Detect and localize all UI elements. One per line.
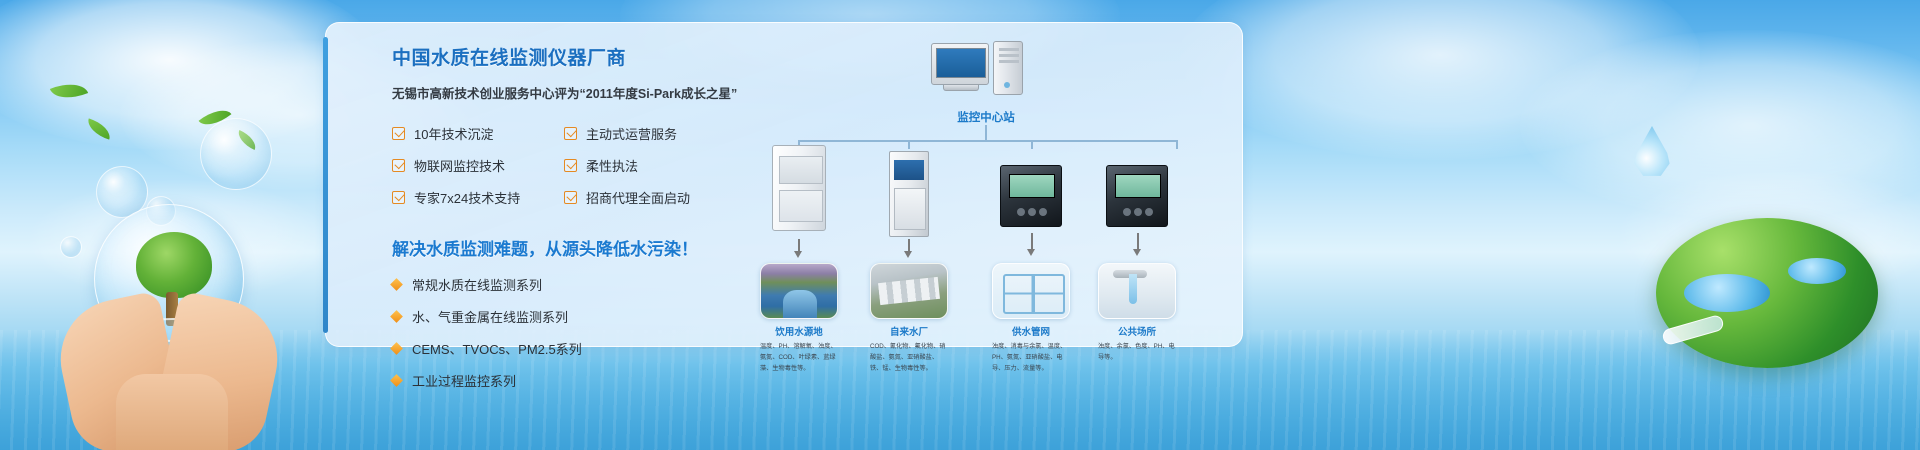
checklist-item-label: 招商代理全面启动 [586,188,690,207]
server-tower-icon [993,41,1023,95]
arrow-down-icon [794,251,802,258]
device-lcd-screen [1115,174,1161,198]
list-item[interactable]: 常规水质在线监测系列 [392,275,722,294]
list-item-label: 工业过程监控系列 [412,371,516,390]
arrow-down-icon [1027,249,1035,256]
scene-card[interactable]: 公共场所 浊度、余氯、色度、PH、电导等。 [1098,263,1176,364]
leaf-icon [84,118,113,139]
river-source-thumb [760,263,838,319]
scene-title: 自来水厂 [870,324,948,338]
water-droplet-icon [1632,126,1672,178]
field-device[interactable] [889,151,929,237]
lake-shape [1684,274,1770,312]
controller-panel-icon [1000,165,1062,227]
section-title: 解决水质监测难题，从源头降低水污染！ [392,235,722,260]
monitoring-topology-diagram: 监控中心站 [756,41,1226,341]
arrow-down-icon [1133,249,1141,256]
pipe-network-thumb [992,263,1070,319]
tree-crown-icon [136,232,212,298]
leaf-icon [50,76,88,105]
device-keypad [1011,205,1053,219]
hands-holding-tree-illustration [60,196,290,450]
list-item[interactable]: CEMS、TVOCs、PM2.5系列 [392,339,722,358]
scene-card[interactable]: 饮用水源地 温度、PH、溶解氧、浊度、氨氮、COD、叶绿素、蓝绿藻、生物毒性等。 [760,263,838,375]
center-station-label: 监控中心站 [886,109,1086,125]
diamond-bullet-icon [390,342,403,355]
field-device[interactable] [1106,165,1168,227]
checkbox-checked-icon [392,191,405,204]
checkbox-checked-icon [392,127,405,140]
connector-line [1031,140,1033,149]
scene-description: COD、氰化物、氟化物、硝酸盐、氨氮、亚硝酸盐、铁、锰、生物毒性等。 [870,342,948,375]
list-item[interactable]: 工业过程监控系列 [392,371,722,390]
device-lcd-screen [1009,174,1055,198]
scene-title: 供水管网 [992,324,1070,338]
scene-card[interactable]: 供水管网 浊度、消毒与余氯、温度、PH、氨氮、亚硝酸盐、电导、压力、流量等。 [992,263,1070,375]
green-earth-illustration [1656,218,1886,408]
analyzer-cabinet-icon [772,145,826,231]
monitor-icon [931,43,989,85]
product-series-list: 常规水质在线监测系列 水、气重金属在线监测系列 CEMS、TVOCs、PM2.5… [392,275,722,390]
checkbox-checked-icon [392,159,405,172]
scene-description: 浊度、余氯、色度、PH、电导等。 [1098,342,1176,364]
cloud-decoration [1520,30,1920,220]
public-tap-thumb [1098,263,1176,319]
feature-checklist: 10年技术沉淀 主动式运营服务 物联网监控技术 柔性执法 专家7x24技术支持 … [392,124,722,207]
checklist-item-label: 主动式运营服务 [586,124,677,143]
monitor-screen [936,48,986,78]
checklist-item-label: 物联网监控技术 [414,156,505,175]
checklist-item[interactable]: 柔性执法 [564,156,722,175]
list-item-label: CEMS、TVOCs、PM2.5系列 [412,339,582,358]
arrow-down-icon [904,251,912,258]
diamond-bullet-icon [390,374,403,387]
connector-line [798,140,1178,142]
bubble-decoration [200,118,272,190]
list-item[interactable]: 水、气重金属在线监测系列 [392,307,722,326]
checklist-item[interactable]: 主动式运营服务 [564,124,722,143]
device-keypad [1117,205,1159,219]
water-plant-thumb [870,263,948,319]
marketing-copy-column: 中国水质在线监测仪器厂商 无锡市高新技术创业服务中心评为“2011年度Si-Pa… [392,43,722,403]
scene-description: 温度、PH、溶解氧、浊度、氨氮、COD、叶绿素、蓝绿藻、生物毒性等。 [760,342,838,375]
checklist-item[interactable]: 专家7x24技术支持 [392,188,564,207]
analyzer-rack-icon [889,151,929,237]
connector-line [908,140,910,149]
checklist-item-label: 10年技术沉淀 [414,124,493,143]
page-title: 中国水质在线监测仪器厂商 [392,43,722,70]
list-item-label: 常规水质在线监测系列 [412,275,542,294]
monitor-stand [943,85,979,91]
checklist-item-label: 柔性执法 [586,156,638,175]
checkbox-checked-icon [564,191,577,204]
connector-line [1176,140,1178,149]
field-device[interactable] [772,145,826,231]
field-device[interactable] [1000,165,1062,227]
panel-accent-bar [323,37,328,333]
diamond-bullet-icon [390,310,403,323]
list-item-label: 水、气重金属在线监测系列 [412,307,568,326]
cloud-decoration [1180,0,1700,160]
diamond-bullet-icon [390,278,403,291]
scene-card[interactable]: 自来水厂 COD、氰化物、氟化物、硝酸盐、氨氮、亚硝酸盐、铁、锰、生物毒性等。 [870,263,948,375]
checklist-item[interactable]: 10年技术沉淀 [392,124,564,143]
page-subtitle: 无锡市高新技术创业服务中心评为“2011年度Si-Park成长之星” [392,83,722,102]
scene-title: 饮用水源地 [760,324,838,338]
lake-shape [1788,258,1846,284]
checkbox-checked-icon [564,159,577,172]
controller-panel-icon [1106,165,1168,227]
checklist-item[interactable]: 招商代理全面启动 [564,188,722,207]
scene-description: 浊度、消毒与余氯、温度、PH、氨氮、亚硝酸盐、电导、压力、流量等。 [992,342,1070,375]
checklist-item[interactable]: 物联网监控技术 [392,156,564,175]
connector-line [985,125,987,141]
computer-server-icon [931,41,1041,103]
forearm-shape [116,374,228,450]
scene-title: 公共场所 [1098,324,1176,338]
checkbox-checked-icon [564,127,577,140]
main-content-panel: 中国水质在线监测仪器厂商 无锡市高新技术创业服务中心评为“2011年度Si-Pa… [325,22,1243,347]
earth-globe-icon [1656,218,1878,368]
checklist-item-label: 专家7x24技术支持 [414,188,520,207]
